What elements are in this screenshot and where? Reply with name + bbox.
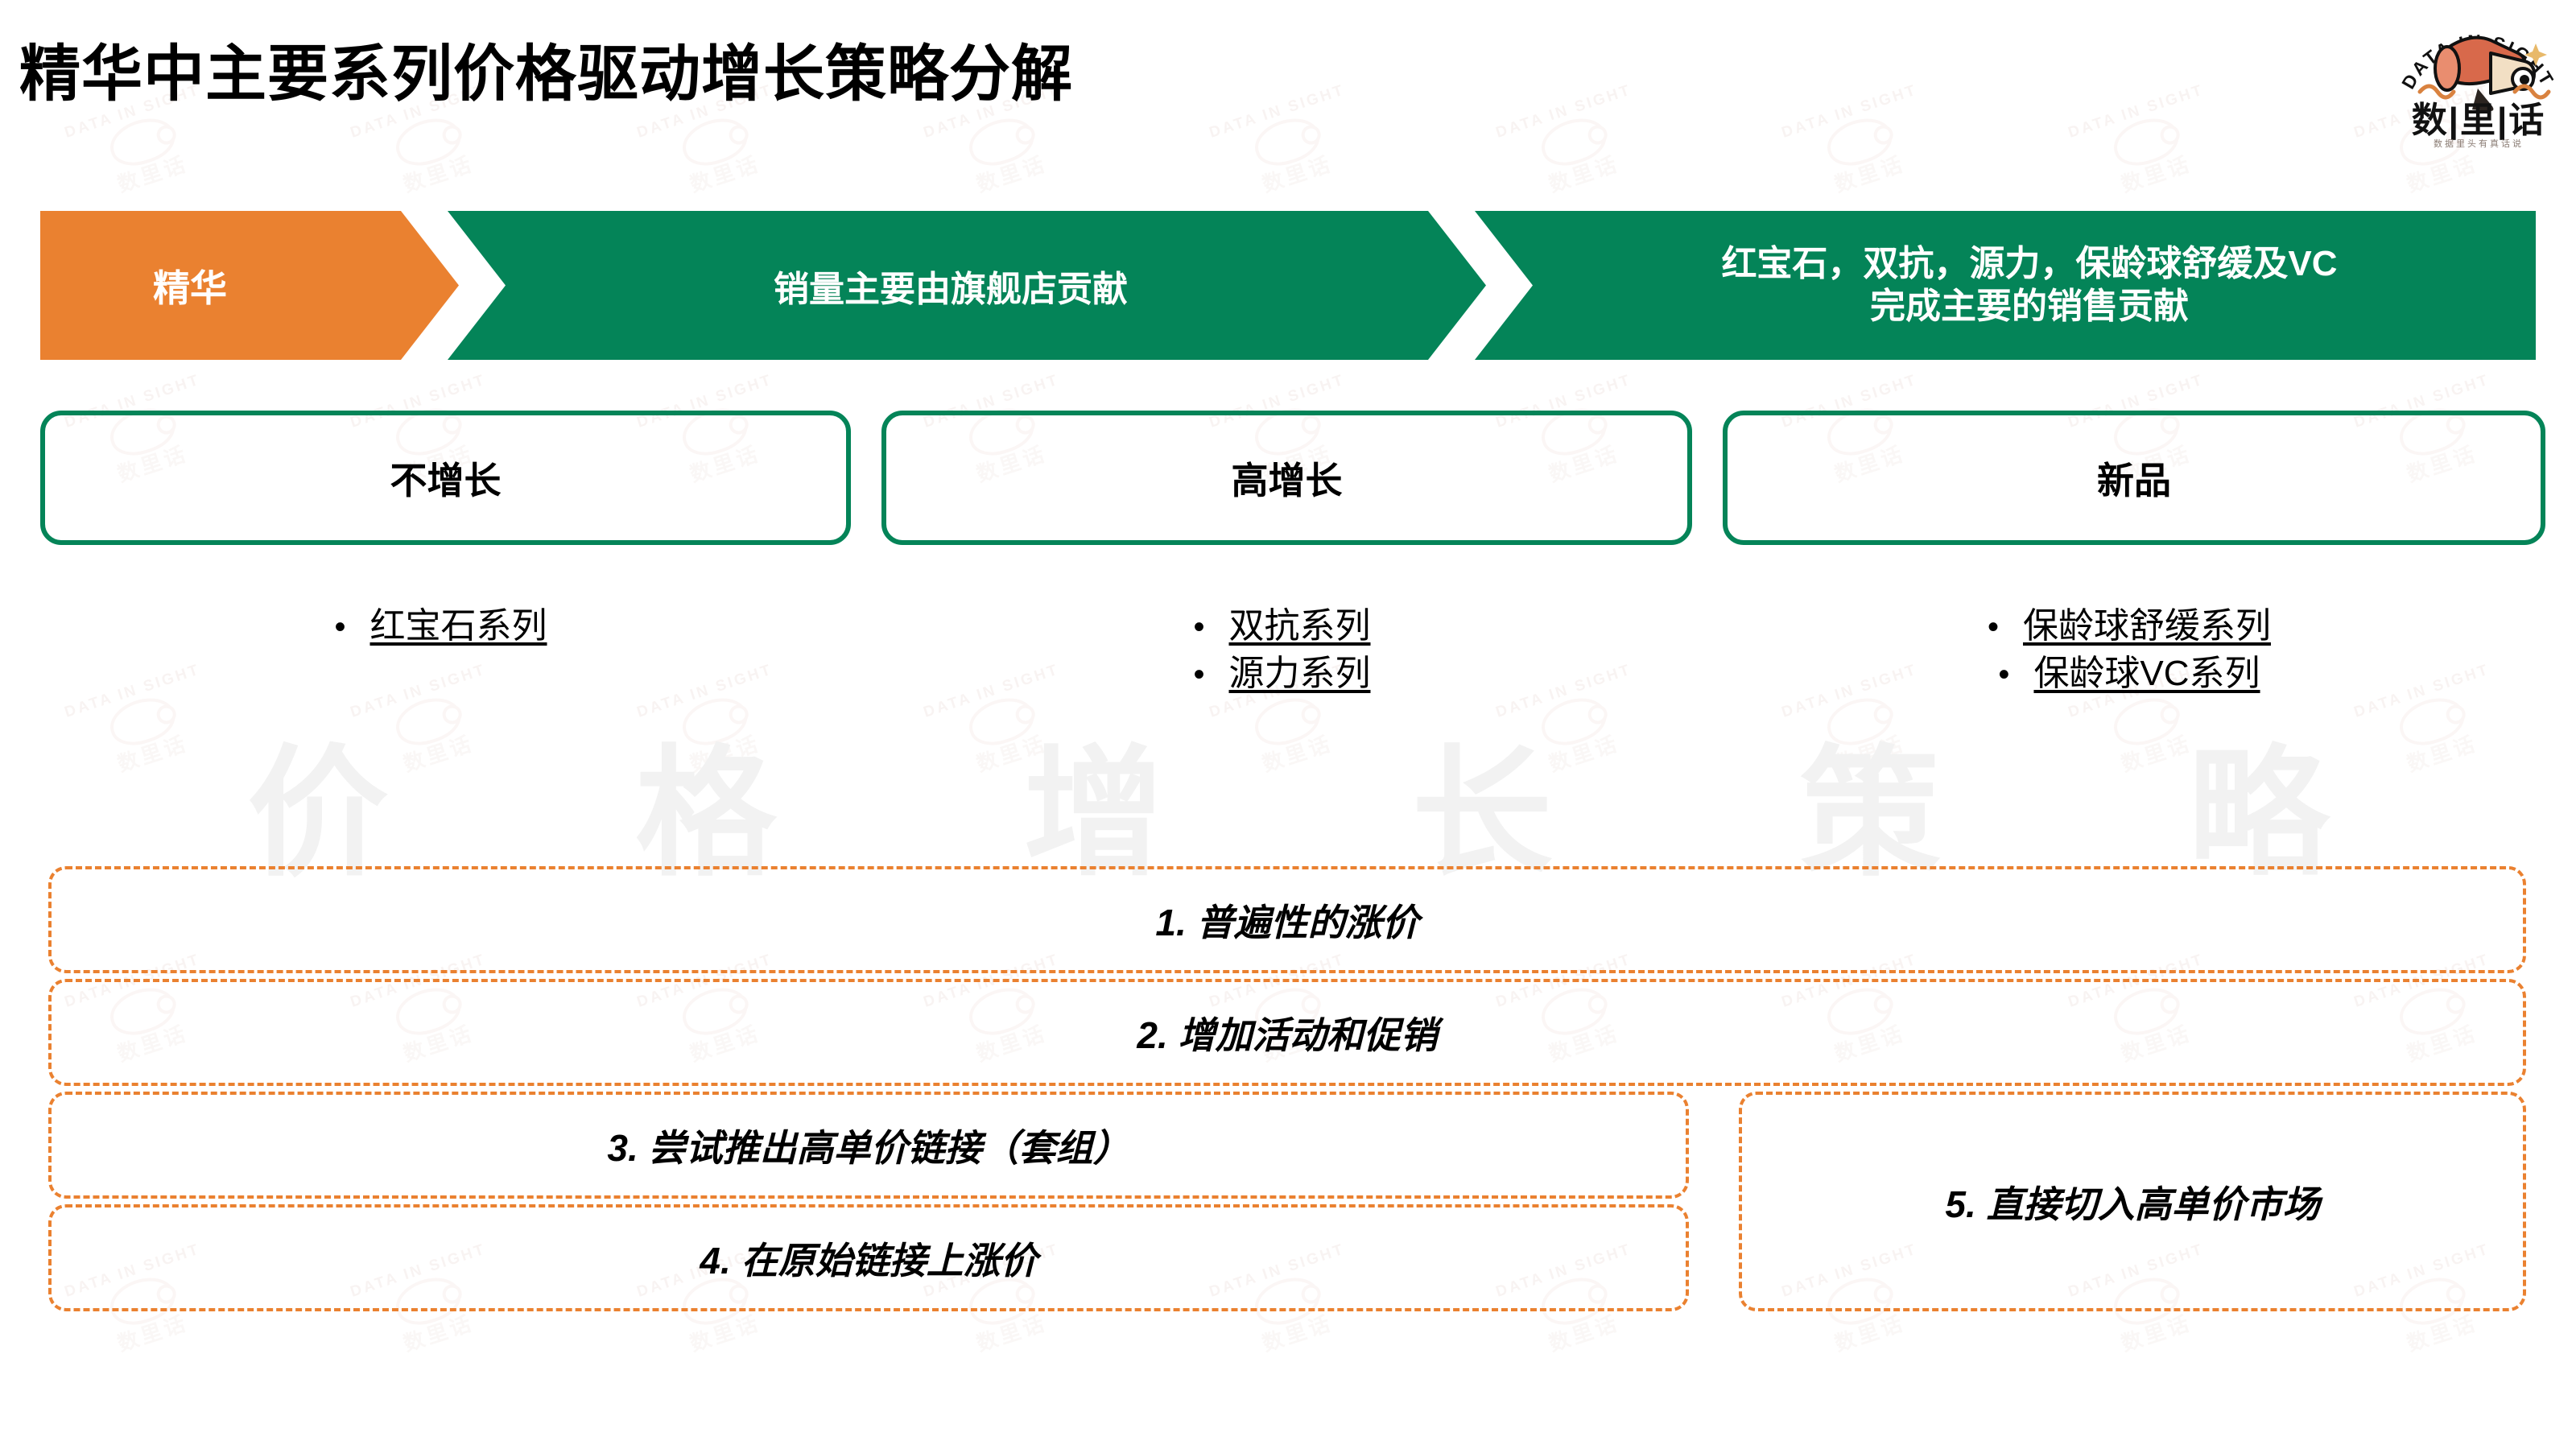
logo-chinese-text: 数|里|话 (2412, 101, 2546, 141)
strategy-box-2[interactable]: 2. 增加活动和促销 (48, 979, 2526, 1086)
bullet-dot-icon: • (1193, 658, 1204, 691)
banner-step-3-line2: 完成主要的销售贡献 (1721, 286, 2337, 328)
category-items-no-growth: • 红宝石系列 (40, 602, 841, 650)
brand-logo: DATA IN SIGHT 数|里|话 数据里头有真话说 (2394, 5, 2563, 154)
list-item[interactable]: • 保龄球VC系列 (1723, 650, 2536, 697)
banner-step-2[interactable]: 销量主要由旗舰店贡献 (448, 211, 1486, 360)
category-title-high-growth: 高增长 (1232, 452, 1343, 505)
list-item-label: 红宝石系列 (370, 602, 547, 650)
strategy-label-1: 1. 普遍性的涨价 (1155, 894, 1418, 947)
process-banner: 精华 销量主要由旗舰店贡献 红宝石，双抗，源力，保龄球舒缓及VC 完成主要的销售… (40, 211, 2536, 360)
list-item[interactable]: • 源力系列 (881, 650, 1682, 697)
category-title-new-product: 新品 (2097, 452, 2171, 505)
page-title: 精华中主要系列价格驱动增长策略分解 (19, 24, 1073, 113)
strategy-label-4: 4. 在原始链接上涨价 (700, 1232, 1037, 1285)
category-items-new-product: • 保龄球舒缓系列 • 保龄球VC系列 (1723, 602, 2536, 698)
category-items-high-growth: • 双抗系列 • 源力系列 (881, 602, 1682, 698)
strategy-box-4[interactable]: 4. 在原始链接上涨价 (48, 1204, 1689, 1311)
category-title-no-growth: 不增长 (390, 452, 502, 505)
strategy-label-2: 2. 增加活动和促销 (1137, 1006, 1437, 1059)
strategy-label-5: 5. 直接切入高单价市场 (1945, 1175, 2319, 1228)
banner-step-2-label: 销量主要由旗舰店贡献 (774, 260, 1160, 312)
list-item-label: 保龄球舒缓系列 (2023, 602, 2271, 650)
list-item[interactable]: • 红宝石系列 (40, 602, 841, 650)
category-box-high-growth[interactable]: 高增长 (881, 411, 1692, 545)
bullet-dot-icon: • (334, 611, 345, 643)
banner-step-3[interactable]: 红宝石，双抗，源力，保龄球舒缓及VC 完成主要的销售贡献 (1475, 211, 2536, 360)
list-item[interactable]: • 双抗系列 (881, 602, 1682, 650)
strategy-box-1[interactable]: 1. 普遍性的涨价 (48, 866, 2526, 973)
category-box-new-product[interactable]: 新品 (1723, 411, 2545, 545)
banner-step-1[interactable]: 精华 (40, 211, 459, 360)
list-item-label: 保龄球VC系列 (2033, 650, 2260, 697)
banner-step-1-label: 精华 (40, 259, 227, 312)
bullet-dot-icon: • (1998, 658, 2009, 691)
strategy-label-3: 3. 尝试推出高单价链接（套组） (607, 1119, 1129, 1172)
list-item[interactable]: • 保龄球舒缓系列 (1723, 602, 2536, 650)
bullet-dot-icon: • (1193, 611, 1204, 643)
strategy-box-3[interactable]: 3. 尝试推出高单价链接（套组） (48, 1092, 1689, 1199)
list-item-label: 双抗系列 (1229, 602, 1371, 650)
bullet-dot-icon: • (1988, 611, 1999, 643)
category-box-no-growth[interactable]: 不增长 (40, 411, 851, 545)
banner-step-3-line1: 红宝石，双抗，源力，保龄球舒缓及VC (1721, 243, 2337, 286)
list-item-label: 源力系列 (1229, 650, 1371, 697)
strategy-box-5[interactable]: 5. 直接切入高单价市场 (1739, 1092, 2526, 1311)
logo-subtitle: 数据里头有真话说 (2434, 138, 2524, 149)
logo-svg: DATA IN SIGHT 数|里|话 数据里头有真话说 (2394, 5, 2563, 154)
banner-step-3-label: 红宝石，双抗，源力，保龄球舒缓及VC 完成主要的销售贡献 (1673, 243, 2337, 328)
